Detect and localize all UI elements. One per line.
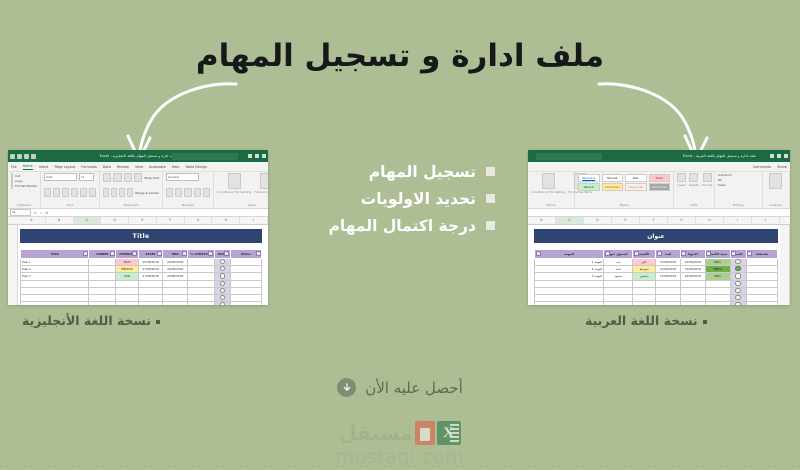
cell-start[interactable]: [656, 302, 681, 305]
cell-percent[interactable]: 100%: [705, 266, 730, 273]
caption-english-label: نسخة اللغة الأنجليزية: [22, 313, 151, 328]
format-painter-button[interactable]: Format Painter: [15, 184, 37, 188]
cell-owner[interactable]: محمود: [604, 273, 633, 280]
tab-insert[interactable]: Insert: [39, 165, 49, 169]
bullet-square-icon: [486, 167, 495, 176]
task-table[interactable]: TASK OWNER PRIORITY START END % COMPLETE…: [20, 249, 262, 305]
done-checkbox-icon[interactable]: [220, 259, 225, 264]
ribbon[interactable]: Cut Copy Format Painter Clipboard Arial …: [8, 172, 268, 209]
window-controls[interactable]: [248, 154, 266, 158]
cell-end[interactable]: [680, 302, 705, 305]
analyze-data-button[interactable]: [769, 173, 782, 189]
cell-owner[interactable]: [89, 287, 116, 294]
done-checkbox-icon[interactable]: [220, 273, 225, 278]
table-row[interactable]: 30% 24/08/2018 27/08/2018 منخفض محمود ال…: [535, 273, 778, 280]
style-chip-check-cell[interactable]: Check Cell: [649, 183, 671, 191]
conditional-formatting-button[interactable]: [228, 173, 241, 189]
window-controls[interactable]: [770, 154, 788, 158]
cell-start[interactable]: 27/08/2018: [138, 266, 163, 273]
cell-notes[interactable]: [230, 302, 261, 305]
cell-percent[interactable]: [188, 259, 215, 266]
cell-task[interactable]: [21, 294, 89, 301]
cell-task[interactable]: [21, 280, 89, 287]
cell-end[interactable]: 24/08/2018: [680, 273, 705, 280]
ribbon-group-clipboard[interactable]: Cut Copy Format Painter Clipboard: [8, 172, 41, 208]
cell-end[interactable]: [680, 287, 705, 294]
done-checkbox-icon[interactable]: [735, 302, 740, 305]
cell-owner[interactable]: غيث: [604, 259, 633, 266]
filter-icon[interactable]: [182, 251, 187, 256]
filter-icon[interactable]: [681, 251, 686, 256]
close-icon[interactable]: [784, 154, 788, 158]
tab-file[interactable]: File: [11, 165, 17, 169]
comments-button[interactable]: Comments: [753, 165, 771, 169]
column-header-i[interactable]: I: [724, 217, 752, 224]
table-row[interactable]: Task 1 HIGH 25/08/2018 29/08/2018: [21, 259, 262, 266]
cell-owner[interactable]: [89, 280, 116, 287]
autosum-button[interactable]: AutoSum: [718, 173, 759, 177]
cell-notes[interactable]: [746, 294, 777, 301]
column-header-h[interactable]: H: [696, 217, 724, 224]
cell-done[interactable]: [730, 273, 746, 280]
th-notes[interactable]: ملاحظات: [746, 250, 777, 259]
excel-logo-icon: X: [437, 421, 461, 445]
cell-percent[interactable]: [705, 294, 730, 301]
ribbon-group-conditional[interactable]: Conditional Formatting Format as Table S…: [528, 172, 575, 208]
fill-color-button[interactable]: [80, 188, 87, 197]
column-header-f[interactable]: F: [640, 217, 668, 224]
decrease-decimal-button[interactable]: [203, 188, 210, 197]
cell-start[interactable]: [138, 280, 163, 287]
cell-done[interactable]: [214, 280, 230, 287]
table-row[interactable]: [21, 287, 262, 294]
search-input[interactable]: [536, 153, 602, 160]
ribbon-group-alignment[interactable]: Wrap Text Merge & Center Alignment: [100, 172, 163, 208]
align-middle-button[interactable]: [113, 173, 121, 182]
style-chip-normal2-link[interactable]: Normal 2: [578, 174, 600, 182]
ribbon[interactable]: Conditional Formatting Format as Table S…: [528, 172, 790, 209]
cell-priority[interactable]: منخفض: [633, 273, 656, 280]
cell-notes[interactable]: [230, 266, 261, 273]
formula-bar[interactable]: A1 ✕ ✓ fx: [8, 209, 268, 217]
column-headers[interactable]: J I H G F E D C B: [528, 217, 790, 225]
fill-button[interactable]: Fill: [718, 178, 759, 182]
filter-icon[interactable]: [110, 251, 115, 256]
th-end[interactable]: الانتهاء: [680, 250, 705, 259]
insert-function-icon[interactable]: fx: [45, 211, 48, 215]
ribbon-group-analysis[interactable]: Analysis: [763, 172, 790, 208]
cell-task[interactable]: [535, 287, 604, 294]
cell-notes[interactable]: [230, 280, 261, 287]
column-header-g[interactable]: G: [668, 217, 696, 224]
th-done[interactable]: DONE: [214, 250, 230, 259]
ribbon-group-editing[interactable]: AutoSum Fill Clear Editing: [715, 172, 763, 208]
cell-priority[interactable]: [116, 287, 138, 294]
cell-owner[interactable]: [89, 273, 116, 280]
font-size-combo[interactable]: 11: [79, 173, 94, 181]
indent-button[interactable]: [127, 188, 133, 197]
filter-icon[interactable]: [256, 251, 261, 256]
cell-done[interactable]: [730, 287, 746, 294]
ribbon-group-cells[interactable]: Insert Delete Format Cells: [674, 172, 715, 208]
increase-decimal-button[interactable]: [194, 188, 201, 197]
tab-data[interactable]: Data: [103, 165, 111, 169]
table-row[interactable]: 50% 31/08/2018 27/08/2018 عالي غيث المهم…: [535, 259, 778, 266]
merge-center-button[interactable]: Merge & Center: [135, 191, 159, 195]
cell-task[interactable]: Task 1: [21, 259, 89, 266]
minimize-icon[interactable]: [248, 154, 252, 158]
column-header-b[interactable]: B: [528, 217, 556, 224]
table-row[interactable]: Task 3 LOW 27/08/2018 29/08/2018: [21, 273, 262, 280]
cell-task[interactable]: المهمة 3: [535, 273, 604, 280]
cell-notes[interactable]: [746, 259, 777, 266]
cell-done[interactable]: [730, 280, 746, 287]
ribbon-group-styles[interactable]: Conditional Formatting Format as Table H…: [214, 172, 268, 208]
ribbon-group-font[interactable]: Arial 11 Font: [41, 172, 100, 208]
cell-start[interactable]: 25/08/2018: [138, 259, 163, 266]
screenshot-arabic-excel[interactable]: ملف ادارة و تسجيل المهام باللغة العربية …: [528, 150, 790, 305]
cell-percent[interactable]: 30%: [705, 273, 730, 280]
table-row[interactable]: [535, 287, 778, 294]
align-right-button[interactable]: [119, 188, 125, 197]
sheet-content[interactable]: Title TASK OWNER PRIORITY START END % CO…: [18, 225, 268, 305]
format-as-table-button[interactable]: [260, 173, 268, 189]
cell-start[interactable]: [656, 294, 681, 301]
format-cells-button[interactable]: [703, 173, 712, 182]
name-box[interactable]: A1: [10, 209, 31, 216]
cell-owner[interactable]: [604, 302, 633, 305]
cell-done[interactable]: [214, 259, 230, 266]
style-chip-neutral[interactable]: Calculation: [602, 183, 624, 191]
cell-done[interactable]: [214, 287, 230, 294]
cell-priority[interactable]: [633, 294, 656, 301]
italic-button[interactable]: [53, 188, 60, 197]
number-format-combo[interactable]: General: [166, 173, 199, 181]
th-start[interactable]: START: [138, 250, 163, 259]
comma-button[interactable]: [184, 188, 191, 197]
task-table[interactable]: ملاحظات الإنجاز نسبة الاكتمال الانتهاء ا…: [534, 249, 778, 305]
download-arrow-icon[interactable]: [337, 378, 356, 397]
cell-start[interactable]: [138, 294, 163, 301]
cell-percent[interactable]: [188, 280, 215, 287]
cell-task[interactable]: [21, 302, 89, 305]
clear-button[interactable]: Clear: [718, 183, 759, 187]
delete-cells-button[interactable]: [689, 173, 698, 182]
filter-icon[interactable]: [731, 251, 736, 256]
cell-notes[interactable]: [230, 287, 261, 294]
tab-review[interactable]: Review: [117, 165, 129, 169]
cell-end[interactable]: 29/08/2018: [163, 259, 188, 266]
wrap-text-button[interactable]: Wrap Text: [144, 176, 159, 180]
cell-notes[interactable]: [746, 287, 777, 294]
th-start[interactable]: البدء: [656, 250, 681, 259]
row-gutter[interactable]: [780, 225, 790, 305]
cut-button[interactable]: Cut: [15, 174, 37, 178]
cell-percent[interactable]: [705, 302, 730, 305]
cell-priority[interactable]: [116, 294, 138, 301]
filter-icon[interactable]: [605, 251, 610, 256]
th-notes[interactable]: Notes: [230, 250, 261, 259]
done-checkbox-icon[interactable]: [735, 281, 740, 286]
filter-icon[interactable]: [224, 251, 229, 256]
cell-done[interactable]: [214, 273, 230, 280]
filter-icon[interactable]: [657, 251, 662, 256]
cell-priority[interactable]: MEDIUM: [116, 266, 138, 273]
cell-priority[interactable]: [116, 280, 138, 287]
done-checkbox-icon[interactable]: [220, 295, 225, 300]
cell-owner[interactable]: [89, 302, 116, 305]
cell-task[interactable]: [535, 294, 604, 301]
align-top-button[interactable]: [103, 173, 111, 182]
filter-icon[interactable]: [747, 251, 752, 256]
cell-priority[interactable]: [633, 280, 656, 287]
th-done[interactable]: الإنجاز: [730, 250, 746, 259]
style-chip-calculation[interactable]: Check Cell: [625, 183, 647, 191]
filter-icon[interactable]: [157, 251, 162, 256]
font-color-button[interactable]: [89, 188, 96, 197]
cell-percent[interactable]: [188, 294, 215, 301]
underline-button[interactable]: [62, 188, 69, 197]
cell-task[interactable]: المهمة 1: [535, 259, 604, 266]
align-left-button[interactable]: [103, 188, 109, 197]
cell-owner[interactable]: [89, 259, 116, 266]
column-header-j[interactable]: J: [752, 217, 780, 224]
cell-done[interactable]: [730, 266, 746, 273]
column-header-a[interactable]: A: [18, 217, 46, 224]
cell-notes[interactable]: [230, 273, 261, 280]
align-center-button[interactable]: [111, 188, 117, 197]
excel-title-bar: ملف ادارة و تسجيل المهام باللغة الانجليز…: [8, 150, 268, 162]
cell-owner[interactable]: [604, 287, 633, 294]
cell-percent[interactable]: [188, 287, 215, 294]
filter-icon[interactable]: [83, 251, 88, 256]
cell-start[interactable]: [656, 287, 681, 294]
th-task[interactable]: المهمة: [535, 250, 604, 259]
done-checkbox-icon[interactable]: [735, 295, 740, 300]
cta-row[interactable]: أحصل عليه الأن: [0, 378, 800, 397]
cell-priority[interactable]: LOW: [116, 273, 138, 280]
ribbon-group-number[interactable]: General Number: [163, 172, 214, 208]
style-chip-normal[interactable]: Bad: [625, 174, 647, 182]
cell-end[interactable]: 31/08/2018: [680, 266, 705, 273]
cell-notes[interactable]: [746, 302, 777, 305]
cell-task[interactable]: [21, 287, 89, 294]
cell-percent[interactable]: [188, 273, 215, 280]
th-owner[interactable]: المسؤل عنها: [604, 250, 633, 259]
table-row[interactable]: [21, 280, 262, 287]
style-chip-bad[interactable]: Good: [649, 174, 671, 182]
group-label-number: Number: [166, 203, 210, 207]
table-row[interactable]: 100% 31/08/2018 27/08/2018 متوسط احمد ال…: [535, 266, 778, 273]
cancel-icon[interactable]: ✕: [34, 211, 37, 215]
cell-task[interactable]: [535, 280, 604, 287]
cell-end[interactable]: 31/08/2018: [680, 259, 705, 266]
cell-notes[interactable]: [746, 266, 777, 273]
ribbon-group-cell-styles[interactable]: Normal 2 Normal Bad Good Neutral Calcula…: [575, 172, 674, 208]
filter-icon[interactable]: [132, 251, 137, 256]
tab-view[interactable]: View: [135, 165, 143, 169]
column-header-c[interactable]: C: [74, 217, 102, 224]
th-owner[interactable]: OWNER: [89, 250, 116, 259]
delete-label: Delete: [689, 183, 699, 187]
column-header-d[interactable]: D: [584, 217, 612, 224]
column-header-d[interactable]: D: [101, 217, 129, 224]
cell-priority[interactable]: عالي: [633, 259, 656, 266]
cell-start[interactable]: 27/08/2018: [656, 259, 681, 266]
done-checkbox-icon[interactable]: [220, 288, 225, 293]
tab-home[interactable]: Home: [23, 164, 33, 170]
cell-end[interactable]: [163, 294, 188, 301]
tab-automate[interactable]: Automate: [149, 165, 166, 169]
style-chip-normal2[interactable]: Normal: [602, 174, 624, 182]
cell-done[interactable]: [730, 259, 746, 266]
tab-formulas[interactable]: Formulas: [81, 165, 96, 169]
table-row[interactable]: [535, 280, 778, 287]
column-header-c[interactable]: C: [556, 217, 584, 224]
filter-icon[interactable]: [536, 251, 541, 256]
font-name-combo[interactable]: Arial: [44, 173, 77, 181]
cell-start[interactable]: 27/08/2018: [656, 266, 681, 273]
formula-bar[interactable]: [528, 209, 790, 217]
cell-task[interactable]: Task 3: [21, 273, 89, 280]
minimize-icon[interactable]: [770, 154, 774, 158]
tab-table-design[interactable]: Table Design: [185, 165, 207, 169]
table-row[interactable]: Task 2 MEDIUM 27/08/2018 28/08/2018: [21, 266, 262, 273]
th-priority[interactable]: PRIORITY: [116, 250, 138, 259]
table-row[interactable]: [21, 294, 262, 301]
column-header-e[interactable]: E: [612, 217, 640, 224]
table-row[interactable]: [535, 302, 778, 305]
cell-done[interactable]: [730, 294, 746, 301]
th-end[interactable]: END: [163, 250, 188, 259]
ribbon-toolbar-right[interactable]: Comments Share: [528, 162, 790, 172]
bold-button[interactable]: [44, 188, 51, 197]
cell-end[interactable]: [680, 280, 705, 287]
paste-button[interactable]: [11, 173, 13, 189]
done-checkbox-icon[interactable]: [220, 302, 225, 305]
cell-start[interactable]: 27/08/2018: [656, 273, 681, 280]
cell-notes[interactable]: [230, 294, 261, 301]
filter-icon[interactable]: [634, 251, 639, 256]
table-row[interactable]: [21, 302, 262, 305]
cell-percent[interactable]: [188, 266, 215, 273]
worksheet[interactable]: عنوان ملاحظات الإنجاز نسبة الاكتمال الان…: [528, 225, 790, 305]
done-checkbox-icon[interactable]: [735, 259, 740, 264]
style-chip-good[interactable]: Neutral: [578, 183, 600, 191]
align-bottom-button[interactable]: [124, 173, 132, 182]
percent-button[interactable]: [175, 188, 182, 197]
cell-end[interactable]: [163, 287, 188, 294]
cell-percent[interactable]: [705, 287, 730, 294]
row-gutter[interactable]: [8, 225, 18, 305]
screenshot-english-excel[interactable]: ملف ادارة و تسجيل المهام باللغة الانجليز…: [8, 150, 268, 305]
done-checkbox-icon[interactable]: [735, 273, 740, 278]
cell-notes[interactable]: [746, 280, 777, 287]
tab-help[interactable]: Help: [172, 165, 180, 169]
column-header-i[interactable]: I: [240, 217, 268, 224]
cell-start[interactable]: [656, 280, 681, 287]
filter-icon[interactable]: [208, 251, 213, 256]
cell-start[interactable]: [138, 302, 163, 305]
filter-icon[interactable]: [706, 251, 711, 256]
cell-done[interactable]: [214, 294, 230, 301]
cell-task[interactable]: المهمة 2: [535, 266, 604, 273]
tab-page-layout[interactable]: Page Layout: [54, 165, 75, 169]
currency-button[interactable]: [166, 188, 173, 197]
enter-icon[interactable]: ✓: [40, 211, 43, 215]
cell-end[interactable]: 29/08/2018: [163, 273, 188, 280]
column-header-b[interactable]: B: [46, 217, 74, 224]
cell-done[interactable]: [214, 266, 230, 273]
cell-owner[interactable]: [604, 294, 633, 301]
cell-task[interactable]: [535, 302, 604, 305]
cell-start[interactable]: [138, 287, 163, 294]
share-button[interactable]: Share: [777, 165, 787, 169]
worksheet[interactable]: Title TASK OWNER PRIORITY START END % CO…: [8, 225, 268, 305]
cell-end[interactable]: [680, 294, 705, 301]
column-header-h[interactable]: H: [212, 217, 240, 224]
maximize-icon[interactable]: [255, 154, 259, 158]
cell-task[interactable]: Task 2: [21, 266, 89, 273]
done-checkbox-icon[interactable]: [735, 266, 740, 271]
cell-priority[interactable]: [116, 302, 138, 305]
close-icon[interactable]: [262, 154, 266, 158]
cell-owner[interactable]: احمد: [604, 266, 633, 273]
column-header-e[interactable]: E: [129, 217, 157, 224]
maximize-icon[interactable]: [777, 154, 781, 158]
cell-end[interactable]: [163, 280, 188, 287]
column-header-f[interactable]: F: [157, 217, 185, 224]
borders-button[interactable]: [71, 188, 78, 197]
cell-percent[interactable]: 50%: [705, 259, 730, 266]
cell-done[interactable]: [214, 302, 230, 305]
cell-percent[interactable]: [188, 302, 215, 305]
orientation-button[interactable]: [134, 173, 142, 182]
cell-end[interactable]: [163, 302, 188, 305]
column-header-g[interactable]: G: [185, 217, 213, 224]
cell-priority[interactable]: HIGH: [116, 259, 138, 266]
th-percent[interactable]: نسبة الاكتمال: [705, 250, 730, 259]
cell-end[interactable]: 28/08/2018: [163, 266, 188, 273]
cell-notes[interactable]: [230, 259, 261, 266]
cell-notes[interactable]: [746, 273, 777, 280]
cell-percent[interactable]: [705, 280, 730, 287]
table-row[interactable]: [535, 294, 778, 301]
group-label-alignment: Alignment: [103, 203, 159, 207]
cell-done[interactable]: [730, 302, 746, 305]
done-checkbox-icon[interactable]: [220, 281, 225, 286]
conditional-formatting-button[interactable]: [542, 173, 555, 189]
sheet-content[interactable]: عنوان ملاحظات الإنجاز نسبة الاكتمال الان…: [528, 225, 780, 305]
cell-start[interactable]: 27/08/2018: [138, 273, 163, 280]
th-task[interactable]: TASK: [21, 250, 89, 259]
search-input[interactable]: [172, 153, 238, 160]
cell-owner[interactable]: [89, 294, 116, 301]
done-checkbox-icon[interactable]: [220, 266, 225, 271]
insert-cells-button[interactable]: [677, 173, 686, 182]
cell-owner[interactable]: [89, 266, 116, 273]
done-checkbox-icon[interactable]: [735, 288, 740, 293]
copy-button[interactable]: Copy: [15, 179, 37, 183]
cell-priority[interactable]: [633, 302, 656, 305]
th-priority[interactable]: الأهمية: [633, 250, 656, 259]
cell-priority[interactable]: [633, 287, 656, 294]
column-headers[interactable]: A B C D E F G H I: [8, 217, 268, 225]
cell-priority[interactable]: متوسط: [633, 266, 656, 273]
cell-owner[interactable]: [604, 280, 633, 287]
ribbon-tabs[interactable]: File Home Insert Page Layout Formulas Da…: [8, 162, 268, 172]
th-percent[interactable]: % COMPLETE: [188, 250, 215, 259]
